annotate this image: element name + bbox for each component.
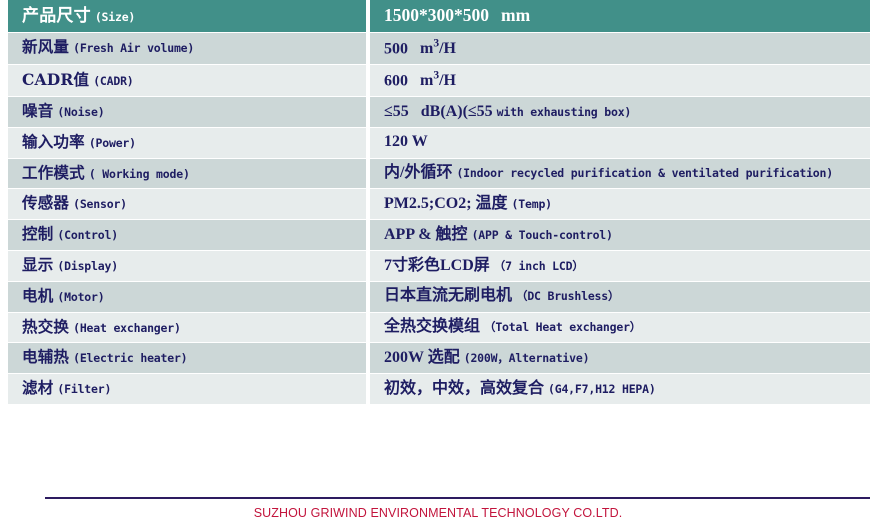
spec-label-en: (Filter): [57, 382, 111, 396]
spec-table-row: 工作模式 ( Working mode)内/外循环 (Indoor recycl…: [8, 159, 870, 190]
spec-label-cell: 显示 (Display): [8, 251, 366, 282]
spec-value-cell: 内/外循环 (Indoor recycled purification & ve…: [370, 159, 870, 190]
spec-value-note: with exhausting box): [497, 105, 631, 119]
spec-label-cn: 控制: [22, 224, 53, 243]
spec-value-main: 500: [384, 40, 408, 57]
spec-label-cell: 输入功率 (Power): [8, 128, 366, 159]
spec-value-note: （DC Brushless）: [516, 289, 619, 303]
spec-table-body: 产品尺寸 (Size)1500*300*500 mm新风量 (Fresh Air…: [8, 0, 870, 405]
spec-value-main: APP & 触控: [384, 226, 468, 243]
spec-value-main: 日本直流无刷电机: [384, 287, 512, 304]
spec-value-main: 7寸彩色LCD屏: [384, 257, 490, 274]
spec-value-main: 120 W: [384, 133, 428, 150]
spec-value-main: ≤55: [384, 103, 409, 120]
spec-table-row: 新风量 (Fresh Air volume)500 m3/H: [8, 33, 870, 65]
spec-sheet-page: 产品尺寸 (Size)1500*300*500 mm新风量 (Fresh Air…: [0, 0, 876, 532]
spec-label-en: (Size): [95, 10, 135, 24]
spec-table-row: 控制 (Control)APP & 触控 (APP & Touch-contro…: [8, 220, 870, 251]
spec-label-cell: 滤材 (Filter): [8, 374, 366, 405]
spec-table-row: 电机 (Motor)日本直流无刷电机 （DC Brushless）: [8, 282, 870, 313]
spec-value-main: 600: [384, 72, 408, 89]
spec-label-cn: CADR值: [22, 70, 89, 89]
spec-label-en: (Motor): [57, 290, 104, 304]
spec-label-en: (CADR): [93, 74, 133, 88]
spec-label-cell: 工作模式 ( Working mode): [8, 159, 366, 190]
spec-value-note: (Temp): [512, 197, 552, 211]
spec-label-cn: 产品尺寸: [22, 6, 91, 26]
spec-value-main: 200W 选配: [384, 349, 460, 366]
spec-value-cell: APP & 触控 (APP & Touch-control): [370, 220, 870, 251]
spec-value-cell: 600 m3/H: [370, 65, 870, 97]
footer-divider: [45, 497, 870, 499]
spec-label-cn: 输入功率: [22, 132, 85, 151]
spec-label-cn: 电辅热: [22, 347, 69, 366]
spec-table-row: 显示 (Display)7寸彩色LCD屏 （7 inch LCD）: [8, 251, 870, 282]
spec-label-cn: 热交换: [22, 317, 69, 336]
footer-company-name: SUZHOU GRIWIND ENVIRONMENTAL TECHNOLOGY …: [0, 506, 876, 520]
spec-label-cn: 电机: [22, 286, 53, 305]
spec-value-cell: 日本直流无刷电机 （DC Brushless）: [370, 282, 870, 313]
spec-label-cell: 传感器 (Sensor): [8, 189, 366, 220]
spec-label-en: (Heat exchanger): [73, 321, 181, 335]
spec-value-note: (APP & Touch-control): [472, 228, 613, 242]
spec-value-cell: 7寸彩色LCD屏 （7 inch LCD）: [370, 251, 870, 282]
spec-label-cn: 噪音: [22, 101, 53, 120]
spec-value-cell: ≤55 dB(A)(≤55 with exhausting box): [370, 97, 870, 128]
spec-label-en: (Noise): [57, 105, 104, 119]
spec-value-cell: 全热交换模组 （Total Heat exchanger）: [370, 313, 870, 344]
spec-value-note: （Total Heat exchanger）: [484, 320, 641, 334]
spec-table-row: 输入功率 (Power)120 W: [8, 128, 870, 159]
spec-label-cell: 新风量 (Fresh Air volume): [8, 33, 366, 65]
spec-value-main: PM2.5;CO2; 温度: [384, 195, 508, 212]
spec-value-unit: mm: [501, 5, 530, 25]
spec-label-en: ( Working mode): [89, 167, 190, 181]
spec-label-en: (Sensor): [73, 197, 127, 211]
spec-label-cn: 新风量: [22, 37, 69, 56]
spec-header-row: 产品尺寸 (Size)1500*300*500 mm: [8, 0, 870, 33]
spec-label-cn: 工作模式: [22, 163, 85, 182]
spec-label-cell: 电辅热 (Electric heater): [8, 343, 366, 374]
spec-value-cell: 500 m3/H: [370, 33, 870, 65]
spec-value-note: （7 inch LCD）: [494, 259, 584, 273]
spec-label-cell: 噪音 (Noise): [8, 97, 366, 128]
spec-value-cell: 1500*300*500 mm: [370, 0, 870, 33]
spec-label-cn: 传感器: [22, 193, 69, 212]
spec-value-unit: m3/H: [420, 72, 456, 89]
spec-value-cell: 初效，中效，高效复合 (G4,F7,H12 HEPA): [370, 374, 870, 405]
spec-table-row: 滤材 (Filter)初效，中效，高效复合 (G4,F7,H12 HEPA): [8, 374, 870, 405]
spec-value-note: (200W，Alternative): [464, 351, 590, 365]
spec-table-row: 电辅热 (Electric heater)200W 选配 (200W，Alter…: [8, 343, 870, 374]
spec-label-cell: 产品尺寸 (Size): [8, 0, 366, 33]
spec-value-unit: dB(A)(≤55: [421, 103, 493, 120]
spec-table-row: 传感器 (Sensor)PM2.5;CO2; 温度 (Temp): [8, 189, 870, 220]
spec-value-main: 全热交换模组: [384, 318, 480, 335]
spec-table-row: 噪音 (Noise)≤55 dB(A)(≤55 with exhausting …: [8, 97, 870, 128]
spec-label-en: (Fresh Air volume): [73, 41, 194, 55]
spec-label-cell: 电机 (Motor): [8, 282, 366, 313]
spec-label-en: (Power): [89, 136, 136, 150]
spec-value-main: 初效，中效，高效复合: [384, 380, 544, 397]
spec-value-unit: m3/H: [420, 40, 456, 57]
spec-label-cn: 显示: [22, 255, 53, 274]
product-specification-table: 产品尺寸 (Size)1500*300*500 mm新风量 (Fresh Air…: [8, 0, 870, 405]
spec-value-note: (Indoor recycled purification & ventilat…: [456, 166, 833, 180]
spec-label-cell: 热交换 (Heat exchanger): [8, 313, 366, 344]
spec-value-main: 1500*300*500: [384, 5, 489, 25]
spec-value-cell: 200W 选配 (200W，Alternative): [370, 343, 870, 374]
spec-label-cn: 滤材: [22, 378, 53, 397]
spec-label-cell: CADR值 (CADR): [8, 65, 366, 97]
spec-value-cell: PM2.5;CO2; 温度 (Temp): [370, 189, 870, 220]
spec-value-note: (G4,F7,H12 HEPA): [548, 382, 656, 396]
spec-value-main: 内/外循环: [384, 164, 452, 181]
spec-label-cell: 控制 (Control): [8, 220, 366, 251]
spec-label-en: (Control): [57, 228, 118, 242]
spec-label-en: (Electric heater): [73, 351, 187, 365]
spec-table-row: 热交换 (Heat exchanger)全热交换模组 （Total Heat e…: [8, 313, 870, 344]
spec-table-row: CADR值 (CADR)600 m3/H: [8, 65, 870, 97]
spec-label-en: (Display): [57, 259, 118, 273]
spec-value-cell: 120 W: [370, 128, 870, 159]
